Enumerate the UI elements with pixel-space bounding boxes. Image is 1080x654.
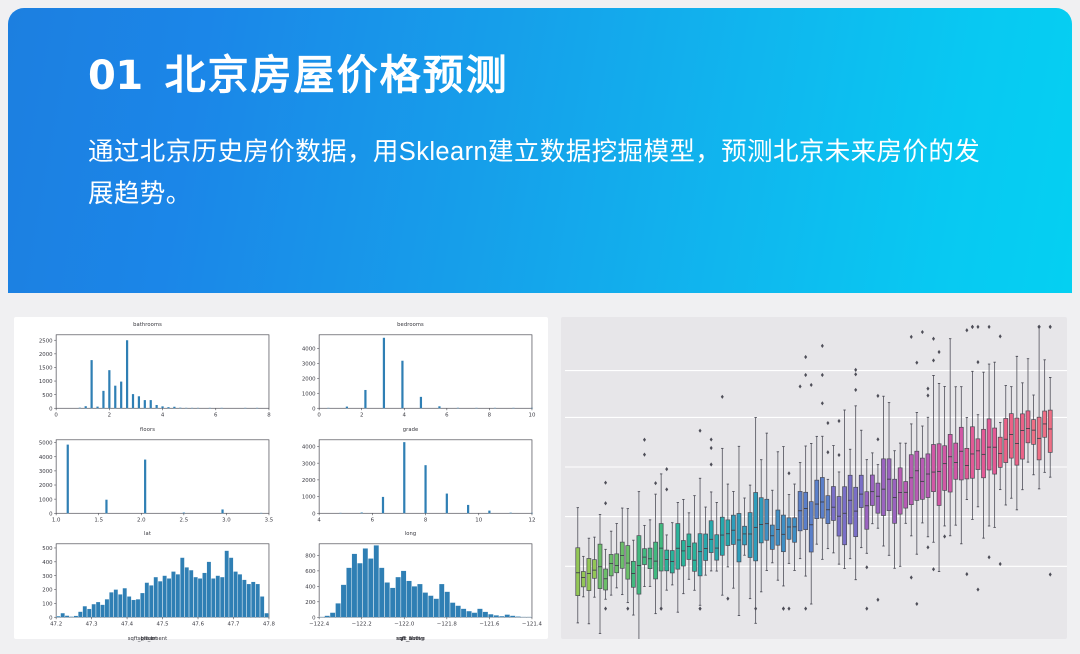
outlier-marker [604, 501, 607, 505]
outlier-marker [821, 344, 824, 348]
outlier-marker [782, 607, 785, 611]
outlier-marker [804, 607, 807, 611]
histogram-cell-bedrooms: bedrooms010002000300040000246810 [279, 321, 542, 426]
slide-root: 01 北京房屋价格预测 通过北京历史房价数据，用Sklearn建立数据挖掘模型，… [0, 0, 1080, 654]
boxplot-box [887, 403, 891, 556]
svg-text:2000: 2000 [39, 483, 53, 489]
hero-content: 01 北京房屋价格预测 通过北京历史房价数据，用Sklearn建立数据挖掘模型，… [88, 54, 1002, 215]
outlier-marker [821, 401, 824, 405]
boxplot-box [798, 384, 802, 558]
svg-text:4: 4 [317, 517, 321, 523]
boxplot-box [959, 387, 963, 544]
boxplot-box [615, 524, 619, 588]
boxplot-box [859, 430, 863, 547]
boxplot-box [609, 531, 613, 595]
svg-text:0: 0 [49, 406, 53, 412]
boxplot-box [754, 418, 758, 624]
outlier-marker [915, 361, 918, 365]
svg-text:−122.0: −122.0 [394, 622, 415, 628]
histogram-svg-bedrooms: 010002000300040000246810 [279, 329, 542, 426]
content-strip: bathrooms0500100015002000250002468bedroo… [0, 293, 1080, 654]
outlier-marker [915, 602, 918, 606]
boxplot-box [848, 449, 852, 558]
svg-text:0: 0 [312, 616, 316, 622]
histogram-cell-bathrooms: bathrooms0500100015002000250002468 [16, 321, 279, 426]
svg-text:0: 0 [49, 511, 53, 517]
outlier-marker [804, 355, 807, 359]
svg-text:47.2: 47.2 [50, 622, 62, 628]
histogram-cell-lat: lat010020030040050047.247.347.447.547.64… [16, 530, 279, 635]
boxplot-box [970, 325, 974, 520]
histogram-title-lat: lat [16, 531, 279, 537]
boxplot-box [954, 387, 958, 525]
outlier-marker [976, 360, 979, 364]
outlier-marker [1049, 325, 1052, 329]
boxplot-box [926, 387, 930, 550]
svg-text:0: 0 [54, 413, 58, 419]
svg-text:500: 500 [42, 393, 53, 399]
svg-text:800: 800 [305, 554, 316, 560]
section-number: 01 [88, 56, 143, 96]
svg-text:−121.4: −121.4 [522, 622, 542, 628]
outlier-marker [838, 419, 841, 423]
boxplot-box [604, 481, 608, 611]
boxplot-box [670, 523, 674, 585]
svg-text:600: 600 [305, 569, 316, 575]
outlier-marker [754, 607, 757, 611]
boxplot-box [837, 419, 841, 564]
svg-text:6: 6 [214, 413, 218, 419]
boxplot-box [998, 334, 1002, 566]
svg-text:−122.4: −122.4 [309, 622, 330, 628]
outlier-marker [910, 335, 913, 339]
outlier-marker [976, 325, 979, 329]
boxplot-box [626, 509, 630, 611]
svg-text:3.5: 3.5 [265, 517, 274, 523]
svg-text:400: 400 [42, 560, 53, 566]
outlier-marker [932, 567, 935, 571]
outlier-marker [710, 446, 713, 450]
boxplot-box [598, 515, 602, 634]
outlier-marker [1049, 572, 1052, 576]
outlier-marker [921, 330, 924, 334]
boxplot-box [876, 394, 880, 602]
svg-text:2000: 2000 [302, 478, 316, 484]
histogram-svg-floors: 0100020003000400050001.01.52.02.53.03.5 [16, 434, 279, 531]
boxplot-box [881, 396, 885, 546]
boxplot-box [1026, 359, 1030, 462]
svg-text:−122.2: −122.2 [352, 622, 372, 628]
svg-text:2: 2 [360, 413, 363, 419]
svg-text:8: 8 [488, 413, 492, 419]
boxplot-box [731, 491, 735, 588]
boxplot-box [665, 467, 669, 590]
boxplot-box [787, 471, 791, 611]
outlier-marker [665, 467, 668, 471]
boxplot-box [909, 335, 913, 580]
boxplot-box [937, 350, 941, 572]
outlier-marker [999, 562, 1002, 566]
boxplot-box [932, 337, 936, 572]
boxplot-box [1048, 325, 1052, 577]
outlier-marker [826, 450, 829, 454]
svg-text:47.5: 47.5 [157, 622, 169, 628]
boxplot-box [704, 507, 708, 575]
boxplot-box [715, 502, 719, 571]
boxplot-box [948, 339, 952, 536]
svg-text:47.4: 47.4 [121, 622, 134, 628]
boxplot-box [982, 372, 986, 538]
boxplot-box [804, 355, 808, 611]
svg-text:4: 4 [161, 413, 165, 419]
svg-text:−121.6: −121.6 [479, 622, 500, 628]
svg-text:1000: 1000 [302, 494, 316, 500]
outlier-marker [876, 437, 879, 441]
histogram-svg-grade: 010002000300040004681012 [279, 434, 542, 531]
outlier-marker [988, 325, 991, 329]
boxplot-box [815, 436, 819, 544]
boxplot-box [915, 361, 919, 606]
boxplot-box [1043, 360, 1047, 473]
boxplot-box [893, 451, 897, 569]
outlier-marker [654, 481, 657, 485]
boxplot-box [581, 556, 585, 596]
svg-text:6: 6 [371, 517, 375, 523]
outlier-marker [932, 358, 935, 362]
outlier-marker [999, 334, 1002, 338]
boxplot-box [898, 443, 902, 566]
boxplot-box [637, 492, 641, 639]
boxplot-box [687, 513, 691, 579]
svg-text:2.0: 2.0 [137, 517, 146, 523]
boxplot-chart [561, 317, 1067, 639]
outlier-marker [604, 481, 607, 485]
boxplot-box [943, 386, 947, 538]
histogram-title-floors: floors [16, 427, 279, 433]
boxplot-box [693, 496, 697, 591]
outlier-marker [938, 350, 941, 354]
outlier-marker [943, 534, 946, 538]
svg-text:1000: 1000 [39, 497, 53, 503]
histogram-grid: bathrooms0500100015002000250002468bedroo… [14, 317, 548, 639]
svg-text:2.5: 2.5 [180, 517, 189, 523]
svg-text:2000: 2000 [39, 352, 53, 358]
histogram-svg-long: 0200400600800−122.4−122.2−122.0−121.8−12… [279, 538, 542, 635]
outlier-marker [721, 395, 724, 399]
svg-text:5000: 5000 [39, 440, 53, 446]
outlier-marker [787, 471, 790, 475]
outlier-marker [988, 555, 991, 559]
outlier-marker [876, 598, 879, 602]
histogram-svg-bathrooms: 0500100015002000250002468 [16, 329, 279, 426]
histogram-title-yr_built: yr_built [279, 636, 542, 642]
boxplot-box [809, 383, 813, 604]
outlier-marker [854, 388, 857, 392]
outlier-marker [804, 373, 807, 377]
outlier-marker [876, 394, 879, 398]
svg-text:3000: 3000 [39, 469, 53, 475]
svg-text:200: 200 [42, 588, 53, 594]
boxplot-box [620, 508, 624, 595]
outlier-marker [976, 587, 979, 591]
svg-text:4: 4 [403, 413, 407, 419]
histogram-title-bedrooms: bedrooms [279, 322, 542, 328]
outlier-marker [699, 429, 702, 433]
svg-text:4000: 4000 [302, 346, 316, 352]
boxplot-box [631, 540, 635, 615]
outlier-marker [854, 372, 857, 376]
histogram-title-sqft_lot: sqft_lot [16, 636, 279, 642]
boxplot-box [831, 446, 835, 553]
svg-text:47.8: 47.8 [263, 622, 276, 628]
svg-text:1000: 1000 [39, 379, 53, 385]
outlier-marker [626, 607, 629, 611]
svg-text:3000: 3000 [302, 361, 316, 367]
histogram-grid-panel: bathrooms0500100015002000250002468bedroo… [14, 317, 548, 639]
outlier-marker [965, 572, 968, 576]
boxplot-box [904, 443, 908, 523]
svg-text:1.0: 1.0 [52, 517, 61, 523]
svg-text:3.0: 3.0 [222, 517, 231, 523]
outlier-marker [910, 575, 913, 579]
outlier-marker [643, 453, 646, 457]
svg-text:200: 200 [305, 600, 316, 606]
outlier-marker [926, 393, 929, 397]
outlier-marker [838, 453, 841, 457]
boxplot-box [587, 538, 591, 624]
outlier-marker [710, 462, 713, 466]
boxplot-box [765, 433, 769, 570]
outlier-marker [699, 607, 702, 611]
svg-text:47.7: 47.7 [227, 622, 239, 628]
boxplot-box [843, 410, 847, 568]
boxplot-box [1037, 325, 1041, 489]
boxplot-box [820, 344, 824, 560]
boxplot-box [642, 438, 646, 587]
boxplot-box [1009, 387, 1013, 499]
outlier-marker [971, 325, 974, 329]
boxplot-box [1004, 385, 1008, 504]
svg-text:1000: 1000 [302, 391, 316, 397]
outlier-marker [821, 373, 824, 377]
outlier-marker [604, 607, 607, 611]
outlier-marker [643, 438, 646, 442]
boxplot-box [709, 437, 713, 570]
svg-text:400: 400 [305, 585, 316, 591]
outlier-marker [726, 597, 729, 601]
svg-text:−121.8: −121.8 [437, 622, 458, 628]
svg-text:0: 0 [49, 616, 53, 622]
hero-banner: 01 北京房屋价格预测 通过北京历史房价数据，用Sklearn建立数据挖掘模型，… [8, 8, 1072, 293]
boxplot-box [737, 446, 741, 615]
outlier-marker [1038, 325, 1041, 329]
outlier-marker [932, 337, 935, 341]
boxplot-box [681, 499, 685, 593]
histogram-cell-floors: floors0100020003000400050001.01.52.02.53… [16, 426, 279, 531]
boxplot-box [576, 508, 580, 623]
svg-text:47.6: 47.6 [192, 622, 205, 628]
svg-text:1500: 1500 [39, 366, 53, 372]
boxplot-box [976, 325, 980, 592]
boxplot-box [720, 395, 724, 595]
boxplot-box [748, 485, 752, 599]
boxplot-box [1020, 383, 1024, 490]
svg-text:8: 8 [267, 413, 271, 419]
boxplot-box [659, 474, 663, 611]
svg-text:4000: 4000 [302, 444, 316, 450]
outlier-marker [810, 383, 813, 387]
svg-text:0: 0 [317, 413, 321, 419]
boxplot-box [793, 484, 797, 570]
svg-text:500: 500 [42, 546, 53, 552]
svg-text:10: 10 [475, 517, 483, 523]
boxplot-box [854, 368, 858, 580]
section-title: 北京房屋价格预测 [165, 54, 509, 97]
boxplot-box [826, 421, 830, 549]
boxplot-box [870, 453, 874, 524]
outlier-marker [865, 607, 868, 611]
svg-text:2000: 2000 [302, 376, 316, 382]
svg-text:300: 300 [42, 574, 53, 580]
svg-text:47.3: 47.3 [86, 622, 98, 628]
svg-text:0: 0 [312, 406, 316, 412]
outlier-marker [854, 368, 857, 372]
boxplot-box [759, 460, 763, 592]
outlier-marker [799, 384, 802, 388]
histogram-cell-grade: grade010002000300040004681012 [279, 426, 542, 531]
boxplot-box [920, 330, 924, 523]
outlier-marker [710, 437, 713, 441]
outlier-marker [926, 387, 929, 391]
svg-text:1.5: 1.5 [94, 517, 103, 523]
svg-text:12: 12 [529, 517, 536, 523]
histogram-title-grade: grade [279, 427, 542, 433]
svg-text:3000: 3000 [302, 461, 316, 467]
boxplot-box [654, 481, 658, 614]
boxplot-box [965, 328, 969, 576]
boxplot-box [781, 447, 785, 611]
svg-text:4000: 4000 [39, 455, 53, 461]
svg-text:2: 2 [108, 413, 111, 419]
outlier-marker [665, 487, 668, 491]
section-subtitle: 通过北京历史房价数据，用Sklearn建立数据挖掘模型，预测北京未来房价的发展趋… [88, 131, 1002, 215]
boxplot-box [1015, 356, 1019, 509]
boxplot-box [648, 520, 652, 587]
outlier-marker [660, 607, 663, 611]
boxplot-box [676, 502, 680, 612]
svg-text:0: 0 [312, 511, 316, 517]
boxplot-box [743, 498, 747, 555]
boxplot-box [726, 484, 730, 601]
boxplot-box [865, 460, 869, 611]
svg-text:100: 100 [42, 602, 53, 608]
page-title: 01 北京房屋价格预测 [88, 54, 1002, 97]
outlier-marker [965, 328, 968, 332]
boxplot-box [698, 429, 702, 611]
boxplot-box [987, 325, 991, 560]
outlier-marker [787, 607, 790, 611]
svg-text:6: 6 [445, 413, 449, 419]
outlier-marker [826, 421, 829, 425]
histogram-cell-long: long0200400600800−122.4−122.2−122.0−121.… [279, 530, 542, 635]
boxplot-panel [561, 317, 1067, 639]
boxplot-box [993, 362, 997, 527]
histogram-title-long: long [279, 531, 542, 537]
histogram-svg-lat: 010020030040050047.247.347.447.547.647.7… [16, 538, 279, 635]
histogram-title-bathrooms: bathrooms [16, 322, 279, 328]
boxplot-box [1032, 395, 1036, 475]
boxplot-box [776, 452, 780, 580]
outlier-marker [926, 545, 929, 549]
svg-text:2500: 2500 [39, 338, 53, 344]
boxplot-box [592, 537, 596, 597]
svg-text:10: 10 [529, 413, 537, 419]
svg-text:8: 8 [424, 517, 428, 523]
boxplot-box [770, 490, 774, 563]
